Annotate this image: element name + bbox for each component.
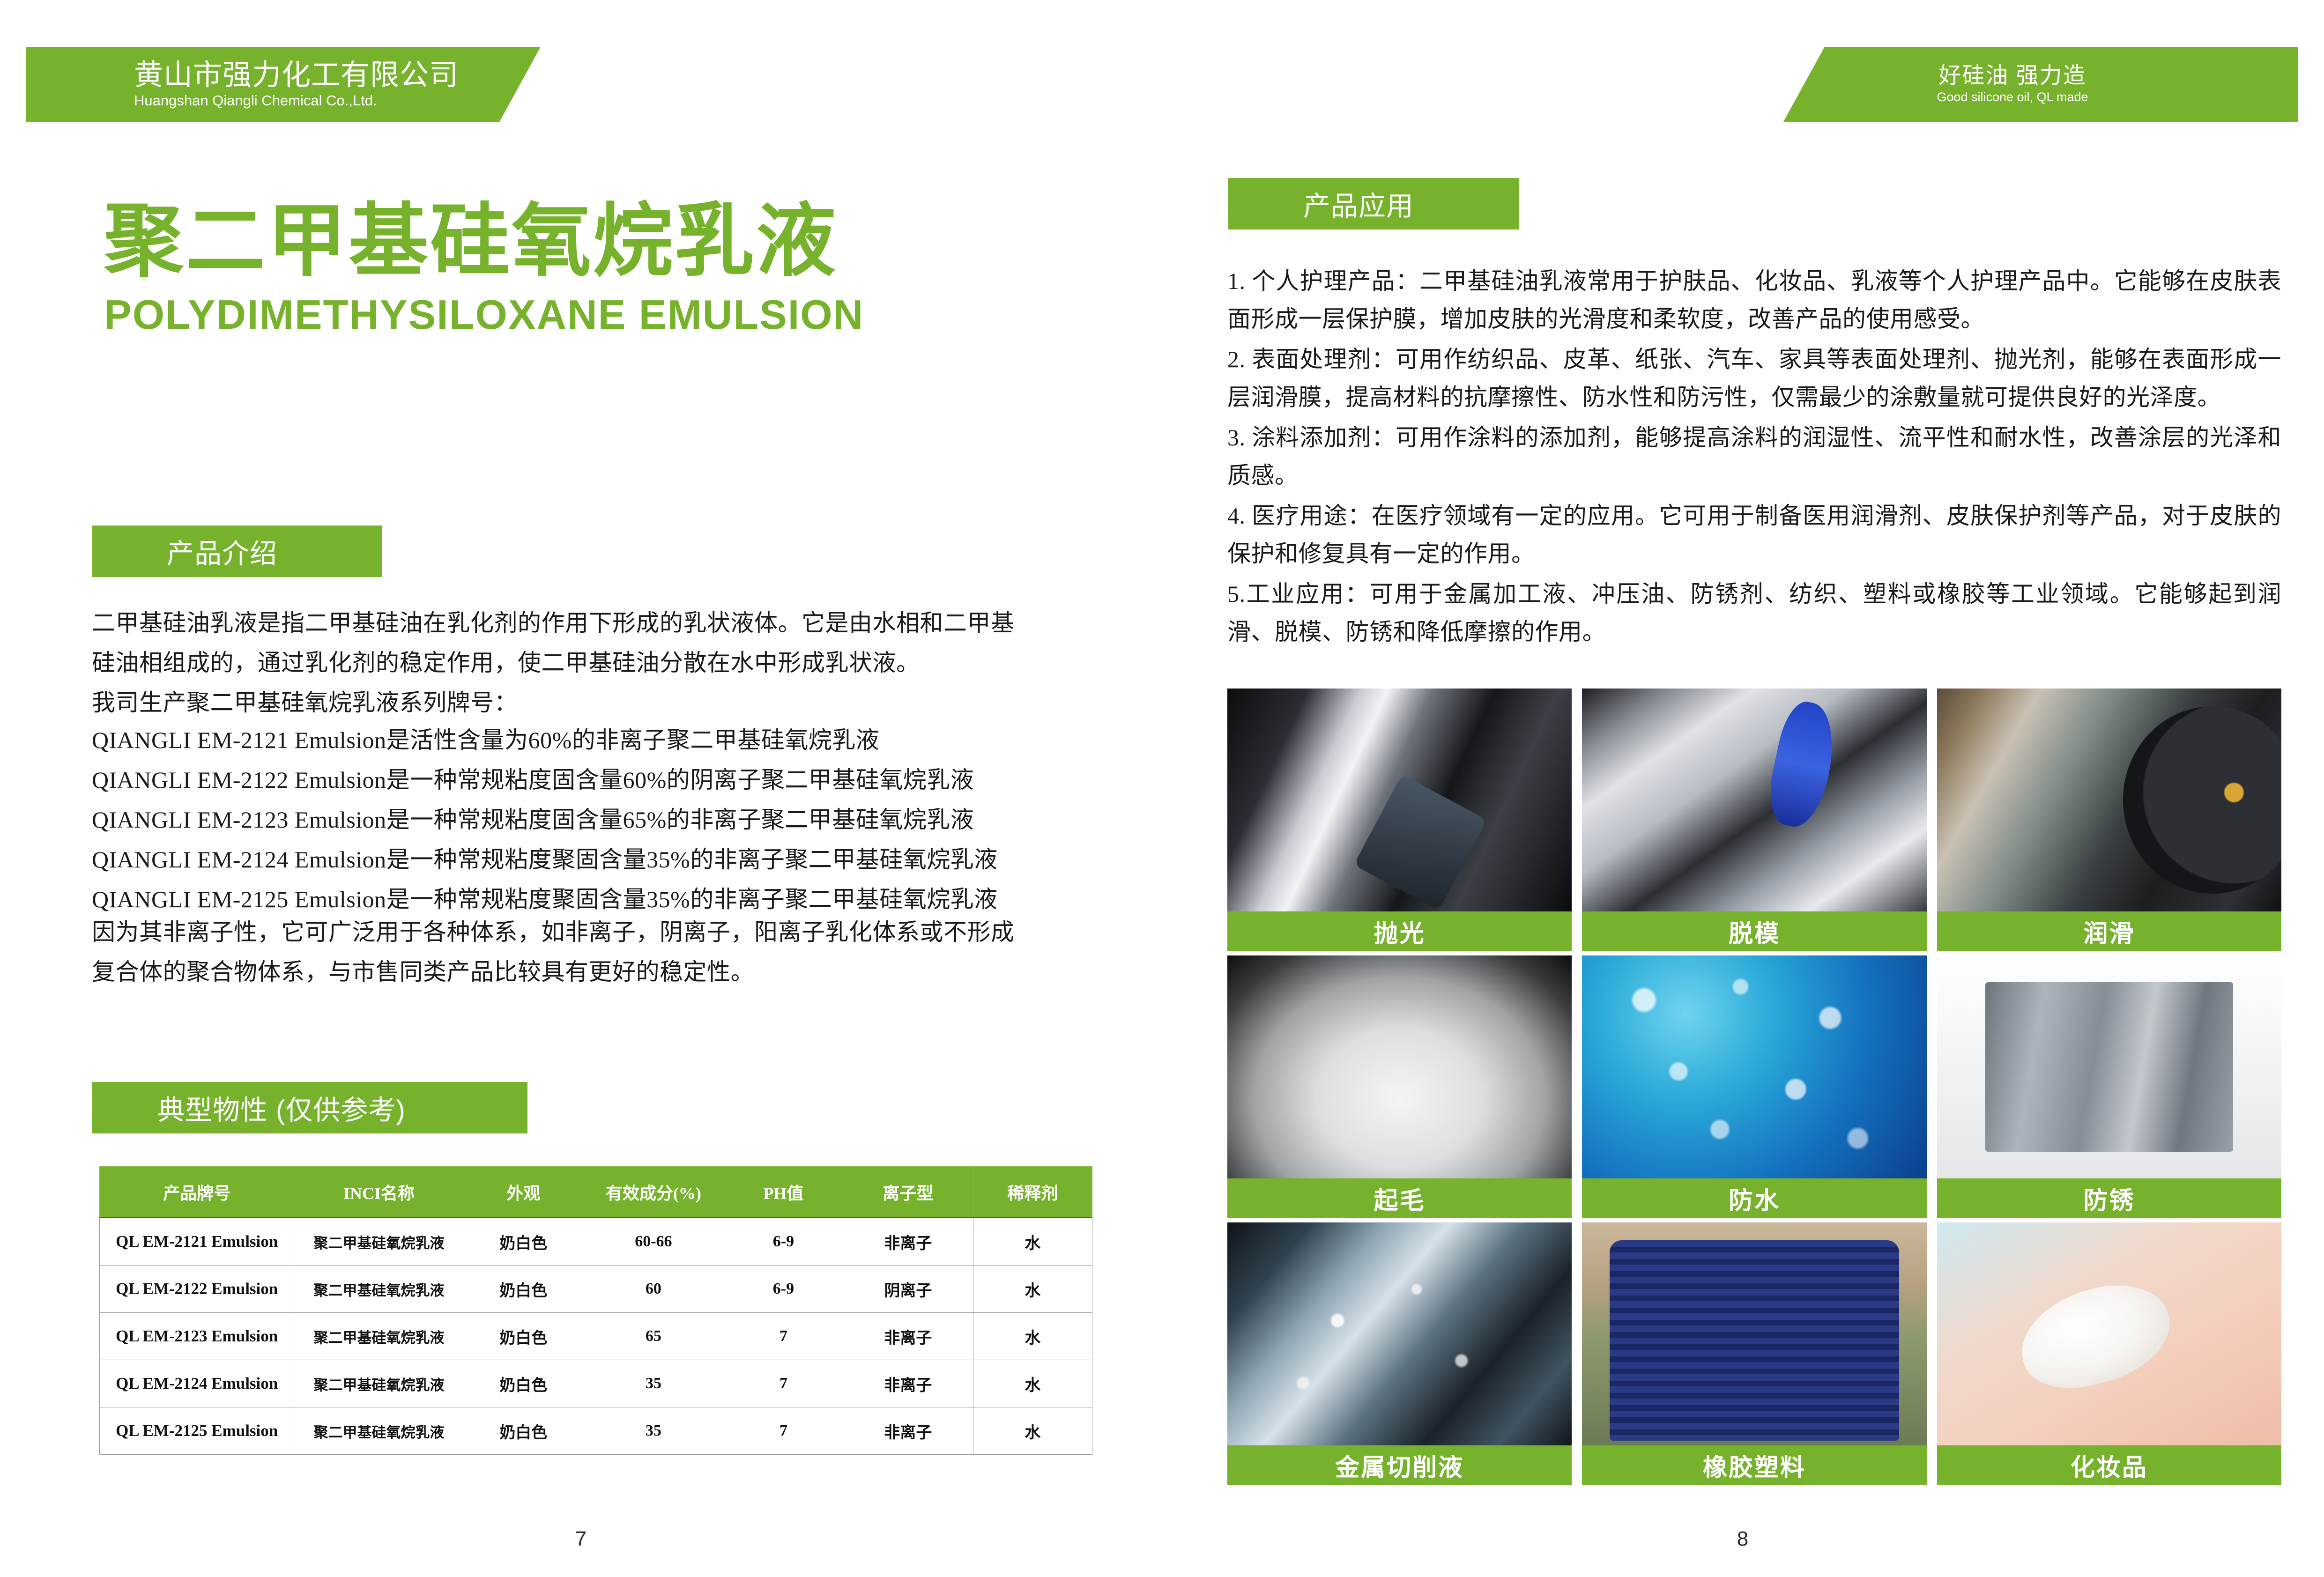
caption-cosmetics: 化妆品 [1937, 1445, 2281, 1485]
cell-active-content: 60-66 [583, 1218, 724, 1266]
cell-diluent: 水 [973, 1407, 1092, 1455]
cell-inci-name: 聚二甲基硅氧烷乳液 [294, 1360, 464, 1407]
application-item: 4. 医疗用途：在医疗领域有一定的应用。它可用于制备医用润滑剂、皮肤保护剂等产品… [1227, 497, 2281, 573]
page-title-cn: 聚二甲基硅氧烷乳液 [104, 201, 864, 281]
slogan-en: Good silicone oil, QL made [1937, 90, 2088, 104]
cell-ph-value: 7 [724, 1313, 843, 1360]
grid-cell-demolding: 脱模 [1582, 689, 1926, 951]
grid-cell-rubber-plastic: 橡胶塑料 [1582, 1222, 1926, 1485]
cell-ionic-type: 非离子 [843, 1360, 973, 1407]
polishing-photo [1227, 689, 1572, 911]
cell-ionic-type: 非离子 [843, 1313, 973, 1360]
grid-cell-polishing: 抛光 [1227, 689, 1572, 951]
table-row: QL EM-2124 Emulsion 聚二甲基硅氧烷乳液 奶白色 35 7 非… [100, 1360, 1092, 1407]
cell-inci-name: 聚二甲基硅氧烷乳液 [294, 1407, 464, 1455]
antirust-photo [1937, 955, 2281, 1178]
slogan-cn: 好硅油 强力造 [1938, 64, 2086, 88]
company-header-banner: 黄山市强力化工有限公司 Huangshan Qiangli Chemical C… [26, 47, 541, 122]
column-header-inci-name: INCI名称 [294, 1167, 464, 1218]
table-row: QL EM-2122 Emulsion 聚二甲基硅氧烷乳液 奶白色 60 6-9… [100, 1266, 1092, 1313]
cell-inci-name: 聚二甲基硅氧烷乳液 [294, 1218, 464, 1266]
grid-cell-fluffing: 起毛 [1227, 955, 1572, 1218]
cell-diluent: 水 [973, 1266, 1092, 1313]
company-name-en: Huangshan Qiangli Chemical Co.,Ltd. [134, 92, 541, 109]
column-header-ionic-type: 离子型 [843, 1167, 973, 1218]
application-item: 1. 个人护理产品：二甲基硅油乳液常用于护肤品、化妆品、乳液等个人护理产品中。它… [1227, 262, 2281, 338]
application-item: 5.工业应用：可用于金属加工液、冲压油、防锈剂、纺织、塑料或橡胶等工业领域。它能… [1227, 575, 2281, 651]
section-heading-product-applications: 产品应用 [1228, 178, 1519, 230]
section-heading-typical-properties: 典型物性 (仅供参考) [92, 1082, 527, 1133]
applications-list: 1. 个人护理产品：二甲基硅油乳液常用于护肤品、化妆品、乳液等个人护理产品中。它… [1227, 262, 2281, 653]
cell-inci-name: 聚二甲基硅氧烷乳液 [294, 1313, 464, 1360]
caption-lubrication: 润滑 [1937, 911, 2281, 951]
cell-ph-value: 7 [724, 1407, 843, 1455]
product-grade-list: QIANGLI EM-2121 Emulsion是活性含量为60%的非离子聚二甲… [92, 721, 1113, 920]
grid-cell-cosmetics: 化妆品 [1937, 1222, 2281, 1485]
intro-line: 硅油相组成的，通过乳化剂的稳定作用，使二甲基硅油分散在水中形成乳状液。 [92, 644, 1090, 682]
column-header-appearance: 外观 [464, 1167, 583, 1218]
grade-line: QIANGLI EM-2121 Emulsion是活性含量为60%的非离子聚二甲… [92, 721, 1113, 759]
cell-appearance: 奶白色 [464, 1313, 583, 1360]
cell-active-content: 65 [583, 1313, 724, 1360]
cell-ionic-type: 非离子 [843, 1407, 973, 1455]
column-header-ph-value: PH值 [724, 1167, 843, 1218]
caption-metal-cutting-fluid: 金属切削液 [1227, 1445, 1572, 1485]
page-title-en: POLYDIMETHYSILOXANE EMULSION [104, 293, 864, 336]
product-intro-paragraphs: 二甲基硅油乳液是指二甲基硅油在乳化剂的作用下形成的乳状液体。它是由水相和二甲基 … [92, 604, 1090, 724]
slogan-header-banner: 好硅油 强力造 Good silicone oil, QL made [1783, 47, 2298, 122]
cell-appearance: 奶白色 [464, 1360, 583, 1407]
company-name-cn: 黄山市强力化工有限公司 [134, 60, 541, 90]
caption-waterproof: 防水 [1582, 1178, 1926, 1218]
cell-inci-name: 聚二甲基硅氧烷乳液 [294, 1266, 464, 1313]
table-row: QL EM-2121 Emulsion 聚二甲基硅氧烷乳液 奶白色 60-66 … [100, 1218, 1092, 1266]
caption-polishing: 抛光 [1227, 911, 1572, 951]
column-header-active-content: 有效成分(%) [583, 1167, 724, 1218]
cell-appearance: 奶白色 [464, 1407, 583, 1455]
cell-active-content: 35 [583, 1360, 724, 1407]
cell-appearance: 奶白色 [464, 1266, 583, 1313]
closing-line: 复合体的聚合物体系，与市售同类产品比较具有更好的稳定性。 [92, 953, 1090, 991]
demolding-photo [1582, 689, 1926, 911]
grade-line: QIANGLI EM-2125 Emulsion是一种常规粘度聚固含量35%的非… [92, 881, 1113, 918]
cosmetics-photo [1937, 1222, 2281, 1445]
intro-line: 我司生产聚二甲基硅氧烷乳液系列牌号： [92, 684, 1090, 722]
caption-demolding: 脱模 [1582, 911, 1926, 951]
cell-active-content: 35 [583, 1407, 724, 1455]
table-row: QL EM-2125 Emulsion 聚二甲基硅氧烷乳液 奶白色 35 7 非… [100, 1407, 1092, 1455]
page-number-right: 8 [1737, 1527, 1748, 1551]
cell-product-grade: QL EM-2121 Emulsion [100, 1218, 294, 1266]
application-item: 2. 表面处理剂：可用作纺织品、皮革、纸张、汽车、家具等表面处理剂、抛光剂，能够… [1227, 341, 2281, 416]
cell-ionic-type: 阴离子 [843, 1266, 973, 1313]
cell-active-content: 60 [583, 1266, 724, 1313]
cell-diluent: 水 [973, 1218, 1092, 1266]
page-number-left: 7 [575, 1527, 587, 1551]
intro-line: 二甲基硅油乳液是指二甲基硅油在乳化剂的作用下形成的乳状液体。它是由水相和二甲基 [92, 604, 1090, 642]
closing-line: 因为其非离子性，它可广泛用于各种体系，如非离子，阴离子，阳离子乳化体系或不形成 [92, 913, 1090, 951]
column-header-diluent: 稀释剂 [973, 1167, 1092, 1218]
cell-ph-value: 6-9 [724, 1266, 843, 1313]
grade-line: QIANGLI EM-2123 Emulsion是一种常规粘度固含量65%的非离… [92, 801, 1113, 839]
fluffing-photo [1227, 955, 1572, 1178]
grid-cell-metal-cutting-fluid: 金属切削液 [1227, 1222, 1572, 1485]
cell-product-grade: QL EM-2122 Emulsion [100, 1266, 294, 1313]
cell-diluent: 水 [973, 1313, 1092, 1360]
grade-line: QIANGLI EM-2124 Emulsion是一种常规粘度聚固含量35%的非… [92, 841, 1113, 879]
grid-cell-waterproof: 防水 [1582, 955, 1926, 1218]
application-image-grid: 抛光 脱模 润滑 起毛 防水 防锈 金属切削液 橡胶塑料 化妆品 [1227, 689, 2281, 1485]
column-header-product-grade: 产品牌号 [100, 1167, 294, 1218]
grade-line: QIANGLI EM-2122 Emulsion是一种常规粘度固含量60%的阴离… [92, 761, 1113, 799]
cell-diluent: 水 [973, 1360, 1092, 1407]
lubrication-photo [1937, 689, 2281, 911]
cell-ionic-type: 非离子 [843, 1218, 973, 1266]
section-heading-product-intro: 产品介绍 [92, 526, 382, 577]
grid-cell-antirust: 防锈 [1937, 955, 2281, 1218]
caption-antirust: 防锈 [1937, 1178, 2281, 1218]
product-intro-closing: 因为其非离子性，它可广泛用于各种体系，如非离子，阴离子，阳离子乳化体系或不形成 … [92, 913, 1090, 993]
cell-product-grade: QL EM-2123 Emulsion [100, 1313, 294, 1360]
cell-product-grade: QL EM-2125 Emulsion [100, 1407, 294, 1455]
hero-title-block: 聚二甲基硅氧烷乳液 POLYDIMETHYSILOXANE EMULSION [104, 201, 864, 336]
cell-product-grade: QL EM-2124 Emulsion [100, 1360, 294, 1407]
waterproof-photo [1582, 955, 1926, 1178]
rubber-plastic-photo [1582, 1222, 1926, 1445]
brochure-page-left: 黄山市强力化工有限公司 Huangshan Qiangli Chemical C… [0, 0, 1162, 1577]
grid-cell-lubrication: 润滑 [1937, 689, 2281, 951]
caption-rubber-plastic: 橡胶塑料 [1582, 1445, 1926, 1485]
caption-fluffing: 起毛 [1227, 1178, 1572, 1218]
application-item: 3. 涂料添加剂：可用作涂料的添加剂，能够提高涂料的润湿性、流平性和耐水性，改善… [1227, 419, 2281, 495]
table-header-row: 产品牌号 INCI名称 外观 有效成分(%) PH值 离子型 稀释剂 [100, 1167, 1092, 1218]
cell-appearance: 奶白色 [464, 1218, 583, 1266]
cell-ph-value: 6-9 [724, 1218, 843, 1266]
cell-ph-value: 7 [724, 1360, 843, 1407]
table-row: QL EM-2123 Emulsion 聚二甲基硅氧烷乳液 奶白色 65 7 非… [100, 1313, 1092, 1360]
metal-cutting-fluid-photo [1227, 1222, 1572, 1445]
typical-properties-table: 产品牌号 INCI名称 外观 有效成分(%) PH值 离子型 稀释剂 QL EM… [99, 1166, 1092, 1455]
